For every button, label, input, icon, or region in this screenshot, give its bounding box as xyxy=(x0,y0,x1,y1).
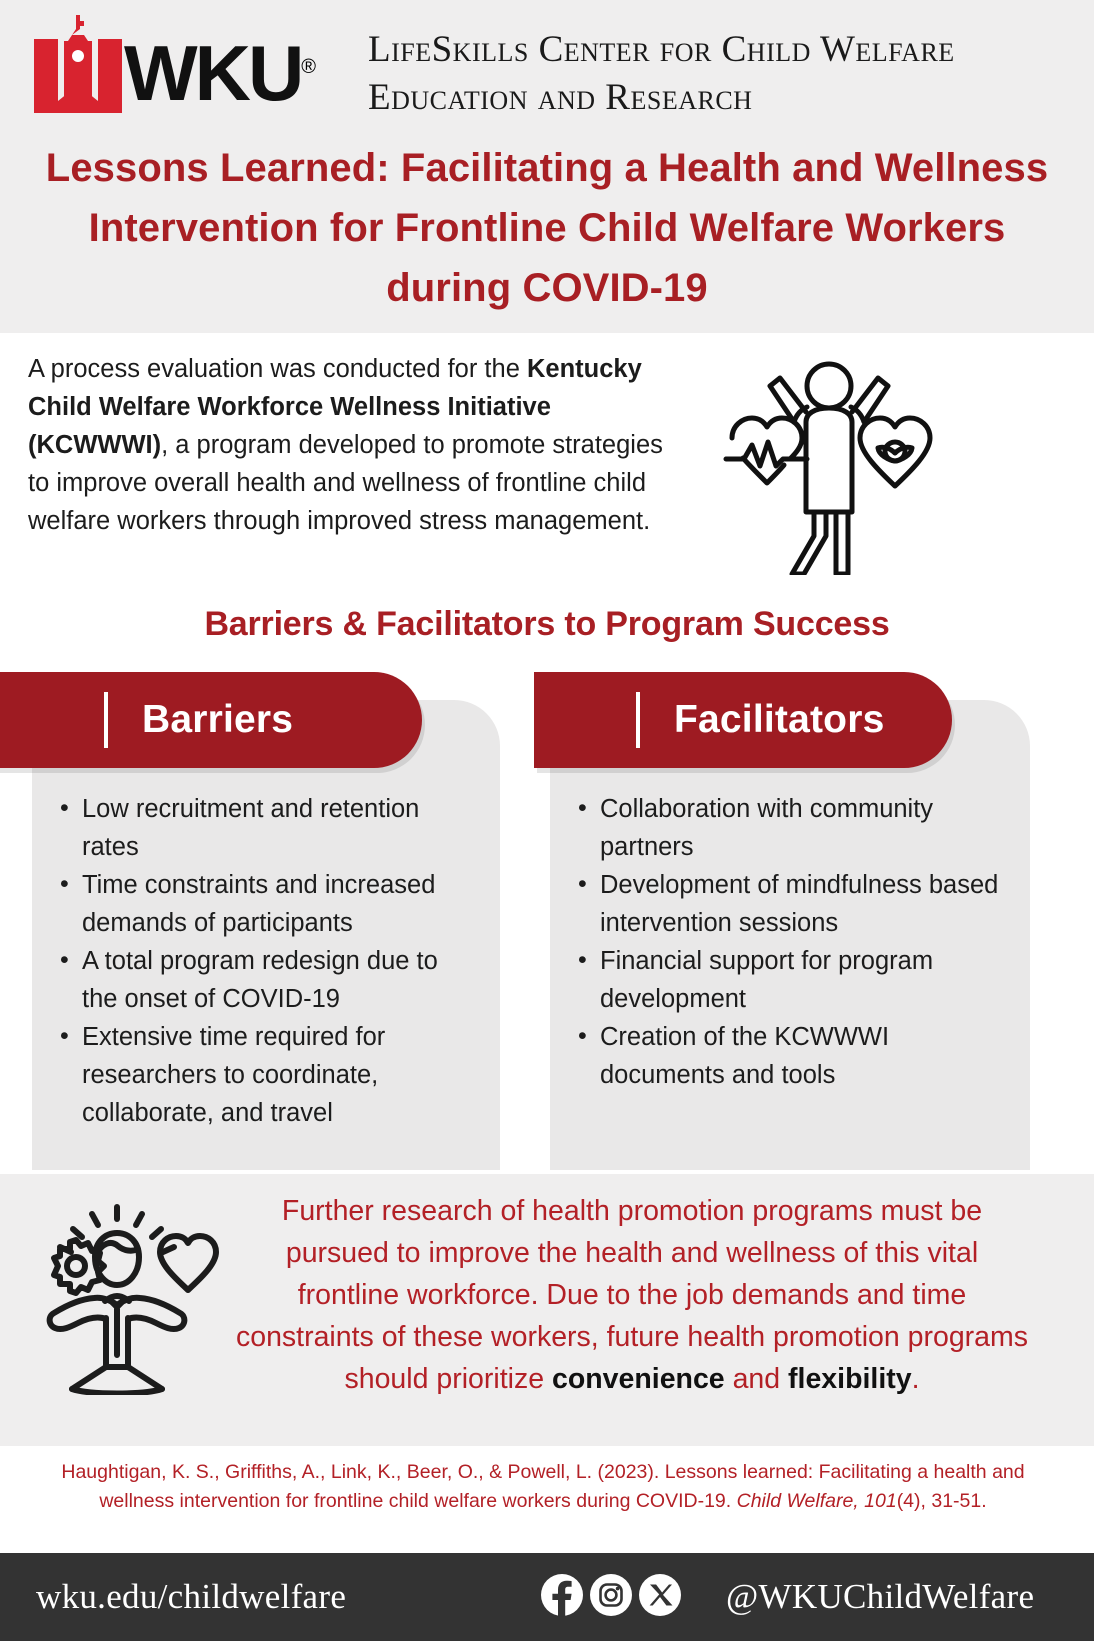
banner-divider xyxy=(104,692,108,748)
facilitators-banner: Facilitators xyxy=(534,672,952,768)
citation: Haughtigan, K. S., Griffiths, A., Link, … xyxy=(32,1458,1054,1516)
wku-wordmark: WKU xyxy=(124,34,301,112)
citation-journal: Child Welfare, 101 xyxy=(737,1490,897,1512)
hero-illustration xyxy=(710,360,950,575)
conclusion-emphasis-convenience: convenience xyxy=(552,1363,725,1395)
facilitators-list: Collaboration with community partners De… xyxy=(578,790,1008,1094)
footer-bar: wku.edu/childwelfare @WKUChildWelfare xyxy=(0,1553,1094,1641)
list-item: Time constraints and increased demands o… xyxy=(60,866,480,942)
wku-logo-lockup: WKU ® xyxy=(28,12,316,122)
center-name-line-2: Education and Research xyxy=(368,74,1058,122)
instagram-icon[interactable] xyxy=(589,1573,633,1622)
facilitators-banner-label: Facilitators xyxy=(674,698,884,742)
header-band: WKU ® LifeSkills Center for Child Welfar… xyxy=(0,0,1094,333)
conclusion-middle: and xyxy=(725,1363,788,1395)
intro-paragraph: A process evaluation was conducted for t… xyxy=(28,350,678,540)
conclusion-paragraph: Further research of health promotion pro… xyxy=(232,1190,1032,1400)
citation-after-italic: (4), 31-51. xyxy=(897,1490,987,1512)
list-item: A total program redesign due to the onse… xyxy=(60,942,480,1018)
banner-divider xyxy=(636,692,640,748)
list-item: Creation of the KCWWWI documents and too… xyxy=(578,1018,1008,1094)
list-item: Development of mindfulness based interve… xyxy=(578,866,1008,942)
x-twitter-icon[interactable] xyxy=(638,1573,682,1622)
list-item: Collaboration with community partners xyxy=(578,790,1008,866)
conclusion-part-2: . xyxy=(912,1363,920,1395)
conclusion-emphasis-flexibility: flexibility xyxy=(788,1363,912,1395)
center-name-line-1: LifeSkills Center for Child Welfare xyxy=(368,29,955,70)
conclusion-illustration xyxy=(10,1195,225,1395)
registered-trademark-icon: ® xyxy=(301,56,316,79)
page-title: Lessons Learned: Facilitating a Health a… xyxy=(40,138,1054,318)
footer-social-links xyxy=(540,1573,682,1622)
section-title: Barriers & Facilitators to Program Succe… xyxy=(40,605,1054,644)
list-item: Low recruitment and retention rates xyxy=(60,790,480,866)
footer-social-handle[interactable]: @WKUChildWelfare xyxy=(726,1577,1034,1617)
barriers-list: Low recruitment and retention rates Time… xyxy=(60,790,480,1132)
footer-website-url[interactable]: wku.edu/childwelfare xyxy=(36,1577,346,1617)
wku-tower-mark-icon xyxy=(28,15,128,119)
barriers-banner: Barriers xyxy=(0,672,422,768)
list-item: Financial support for program developmen… xyxy=(578,942,1008,1018)
center-name: LifeSkills Center for Child Welfare Educ… xyxy=(368,26,1058,122)
intro-part-1: A process evaluation was conducted for t… xyxy=(28,355,527,383)
list-item: Extensive time required for researchers … xyxy=(60,1018,480,1132)
barriers-banner-label: Barriers xyxy=(142,698,293,742)
facebook-icon[interactable] xyxy=(540,1573,584,1622)
